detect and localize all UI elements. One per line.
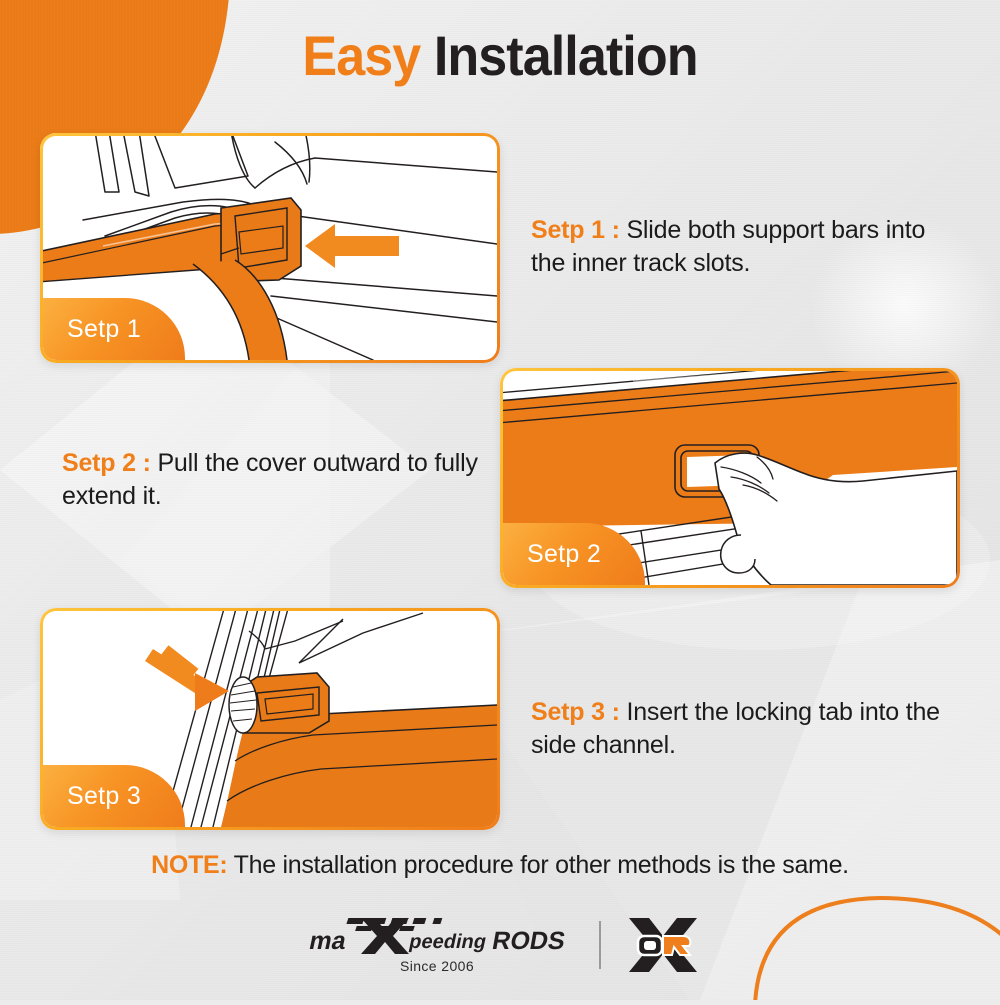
- step-1-badge-label: Setp 1: [43, 315, 141, 344]
- step-2-badge-label: Setp 2: [503, 540, 601, 569]
- step-1-illustration-panel: Setp 1: [40, 133, 500, 363]
- panel-content: Setp 3: [43, 611, 497, 827]
- title-word-easy: Easy: [302, 24, 420, 87]
- panel-content: Setp 1: [43, 136, 497, 360]
- panel-content: Setp 2: [503, 371, 957, 585]
- diagonal-arrow-icon: [145, 639, 229, 711]
- page-title: Easy Installation: [0, 28, 1000, 84]
- step-1-text-label: Setp 1 :: [531, 216, 620, 244]
- note-line: NOTE: The installation procedure for oth…: [0, 851, 1000, 880]
- svg-text:RODS: RODS: [490, 927, 567, 955]
- title-word-installation: Installation: [434, 24, 698, 87]
- note-label: NOTE:: [151, 851, 227, 879]
- left-arrow-icon: [305, 224, 399, 268]
- maxpeedingrods-logo: ma peeding RODS: [301, 916, 573, 956]
- oxr-badge-logo: [627, 914, 699, 976]
- step-3-illustration-panel: Setp 3: [40, 608, 500, 830]
- svg-text:peeding: peeding: [407, 931, 488, 953]
- brand-block: ma peeding RODS Since 2006: [301, 916, 573, 974]
- brand-since-label: Since 2006: [400, 958, 474, 974]
- note-text: The installation procedure for other met…: [227, 851, 848, 879]
- step-2-description: Setp 2 : Pull the cover outward to fully…: [62, 447, 492, 514]
- footer-divider: [599, 921, 601, 969]
- step-2-text-label: Setp 2 :: [62, 449, 151, 477]
- footer: ma peeding RODS Since 2006: [0, 905, 1000, 985]
- step-3-description: Setp 3 : Insert the locking tab into the…: [531, 696, 961, 763]
- step-2-illustration-panel: Setp 2: [500, 368, 960, 588]
- step-1-description: Setp 1 : Slide both support bars into th…: [531, 214, 961, 281]
- step-3-badge-label: Setp 3: [43, 782, 141, 811]
- svg-text:ma: ma: [307, 927, 350, 955]
- step-3-text-label: Setp 3 :: [531, 698, 620, 726]
